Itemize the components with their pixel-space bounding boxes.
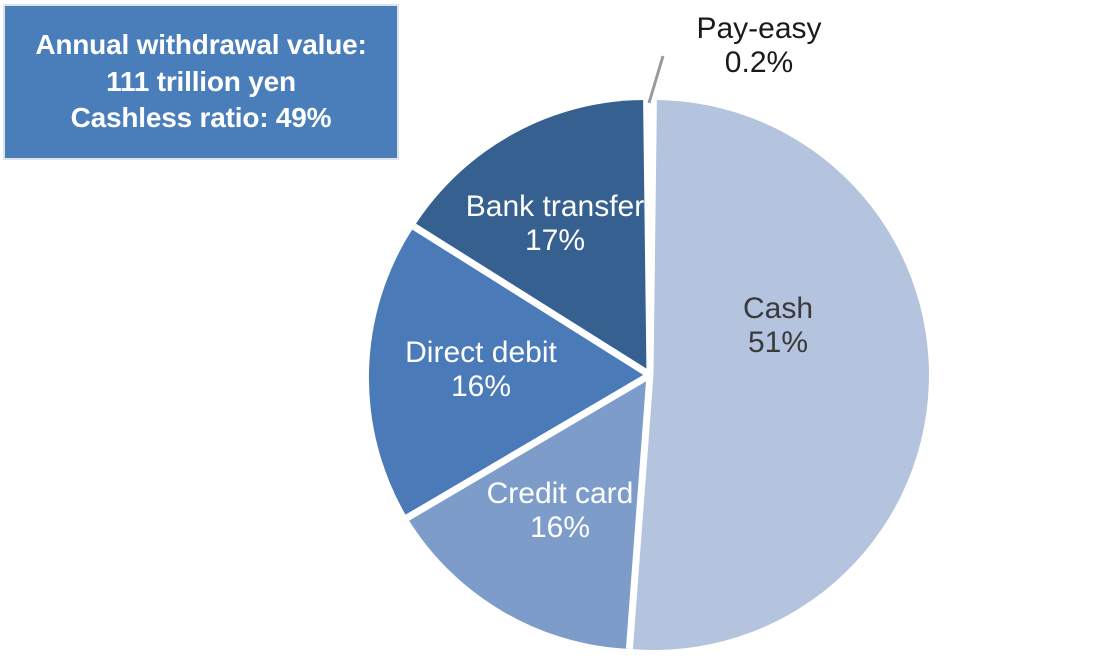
summary-callout-box: Annual withdrawal value: 111 trillion ye…	[3, 4, 399, 160]
pay-easy-leader-line	[649, 56, 663, 103]
callout-line-3: Cashless ratio: 49%	[71, 100, 332, 136]
pie-slice-cash[interactable]	[629, 100, 929, 650]
chart-canvas: Cash 51% Bank transfer 17% Direct debit …	[0, 0, 1120, 668]
callout-line-1: Annual withdrawal value:	[35, 27, 366, 63]
callout-line-2: 111 trillion yen	[106, 64, 296, 100]
